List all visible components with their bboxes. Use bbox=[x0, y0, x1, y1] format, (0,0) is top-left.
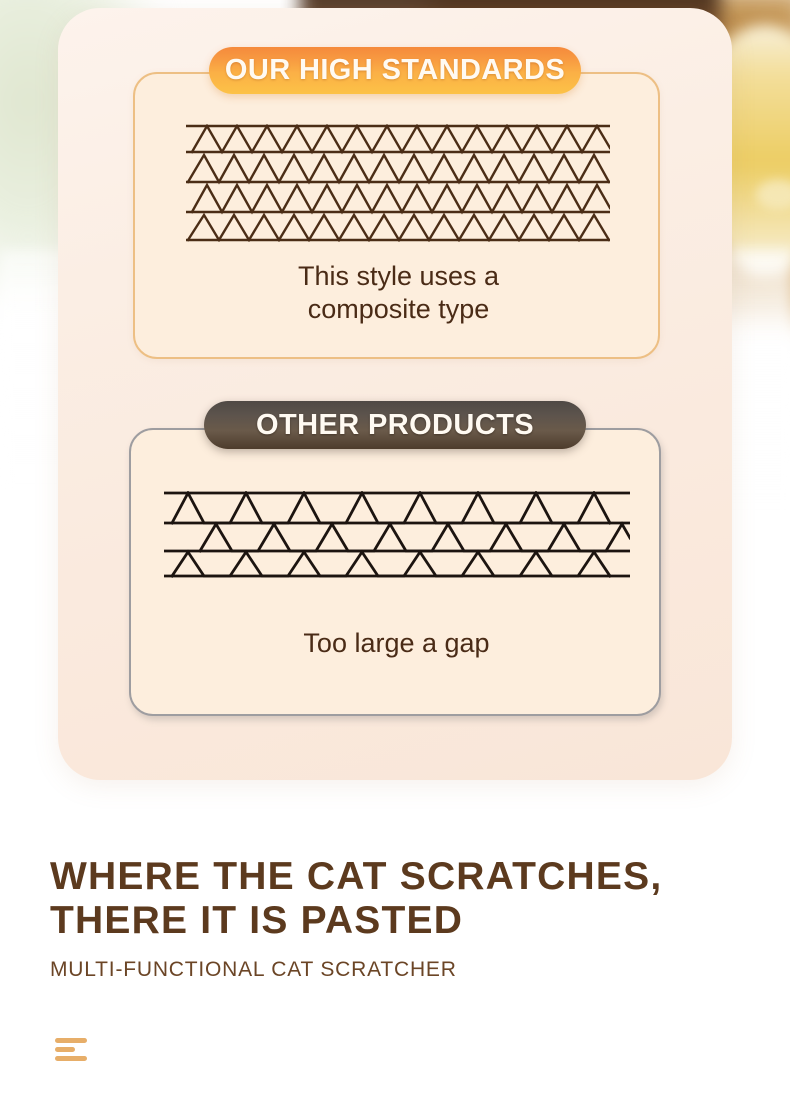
card-other-products: Too large a gap bbox=[129, 428, 661, 716]
hamburger-bar-3 bbox=[55, 1056, 87, 1061]
pattern-sparse-triangles bbox=[164, 491, 630, 578]
pattern-tight-triangles bbox=[186, 124, 610, 242]
badge-our-high-standards: OUR HIGH STANDARDS bbox=[209, 47, 581, 94]
caption-other-products: Too large a gap bbox=[153, 627, 640, 660]
page-subheadline: MULTI-FUNCTIONAL CAT SCRATCHER bbox=[50, 958, 457, 982]
caption-line-1: This style uses a composite type bbox=[155, 260, 642, 326]
card-our-high-standards: This style uses a composite type bbox=[133, 72, 660, 359]
caption-line-1: Too large a gap bbox=[153, 627, 640, 660]
page-headline: WHERE THE CAT SCRATCHES, THERE IT IS PAS… bbox=[50, 855, 750, 942]
hamburger-icon[interactable] bbox=[55, 1038, 91, 1064]
badge-other-products: OTHER PRODUCTS bbox=[204, 401, 586, 449]
hamburger-bar-2 bbox=[55, 1047, 75, 1052]
hamburger-bar-1 bbox=[55, 1038, 87, 1043]
caption-our-high-standards: This style uses a composite type bbox=[155, 260, 642, 326]
